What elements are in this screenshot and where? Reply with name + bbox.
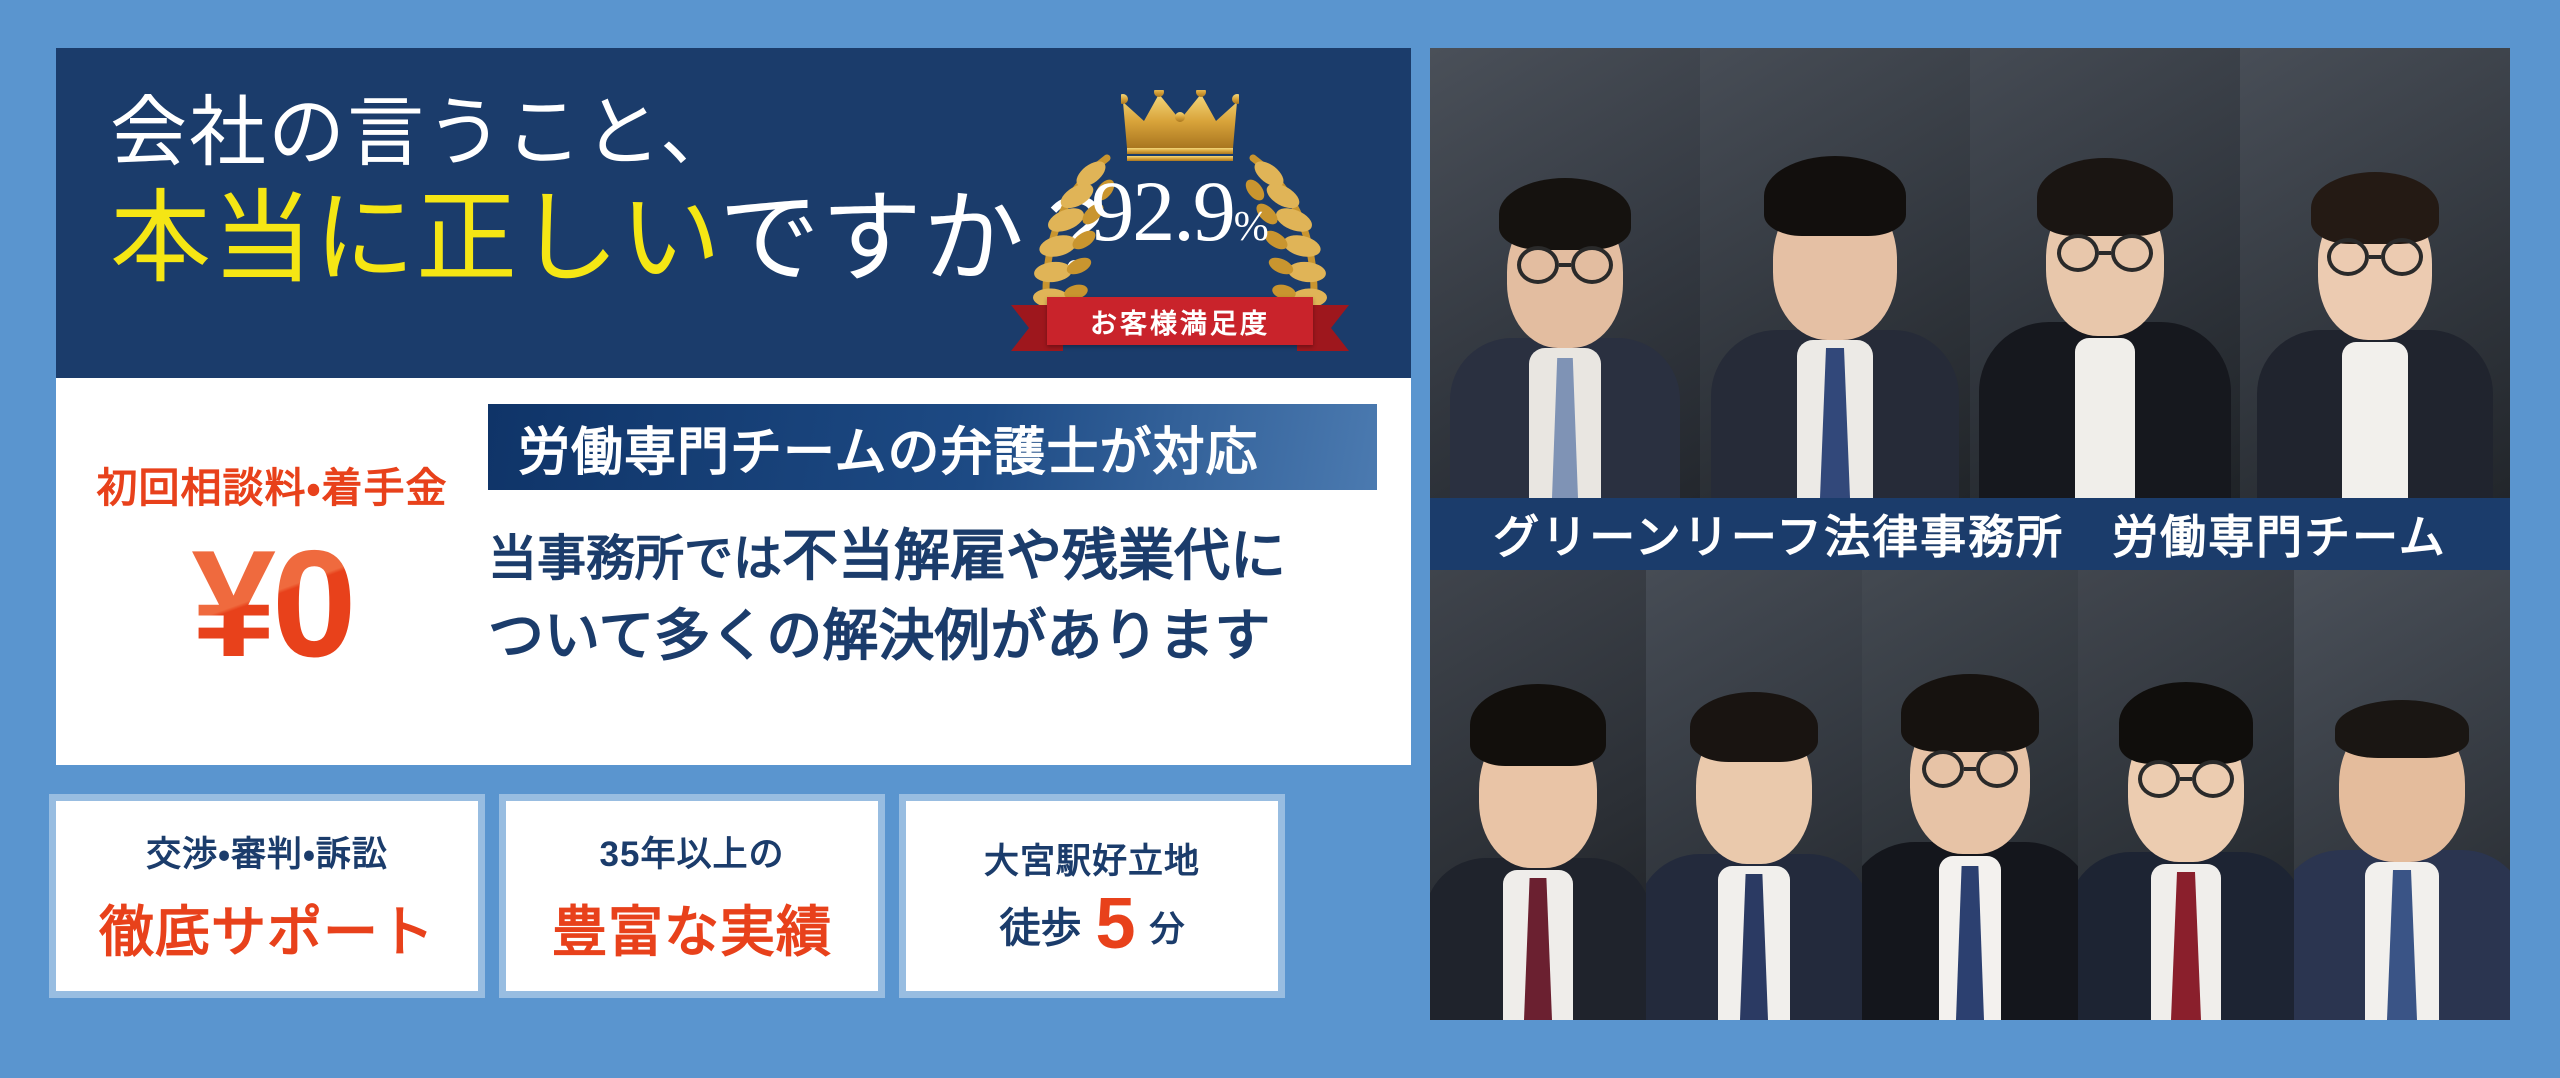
satisfaction-badge: 92.9% お客様満足度	[1015, 90, 1345, 355]
ribbon-body: お客様満足度	[1047, 297, 1313, 345]
offer-body-plain: 当事務所では	[488, 532, 782, 586]
offer-body-line-1: 当事務所では不当解雇や残業代に	[488, 516, 1377, 596]
offer-body-text: 当事務所では不当解雇や残業代に ついて多くの解決例があります	[488, 516, 1377, 675]
offer-card: 初回相談料・着手金 ¥0 労働専門チームの弁護士が対応 当事務所では不当解雇や残…	[56, 378, 1411, 765]
feature-support-top: 交渉・審判・訴訟	[146, 826, 388, 877]
offer-body-emphasis: 不当解雇や残業代に	[782, 524, 1286, 587]
feature-location-top: 大宮駅好立地	[984, 833, 1200, 884]
offer-body-line-2: ついて多くの解決例があります	[488, 596, 1377, 676]
team-caption-bar: グリーンリーフ法律事務所 労働専門チーム	[1430, 498, 2510, 570]
ribbon-label: お客様満足度	[1090, 302, 1270, 341]
left-content-column: 会社の言うこと、 本当に正しいですか？	[0, 0, 1400, 1078]
feature-location-walk: 徒歩 5 分	[999, 888, 1184, 960]
feature-experience-main: 豊富な実績	[552, 887, 832, 967]
feature-support-main: 徹底サポート	[99, 887, 435, 967]
lawyer-portrait-2	[1700, 48, 1970, 498]
team-photo-column: グリーンリーフ法律事務所 労働専門チーム	[1430, 48, 2510, 1020]
lawyer-portrait-5	[1430, 570, 1646, 1020]
fee-value: ¥0	[191, 532, 352, 678]
feature-box-support[interactable]: 交渉・審判・訴訟 徹底サポート	[56, 801, 478, 991]
lawyer-portrait-9	[2294, 570, 2510, 1020]
team-photo-row-top	[1430, 48, 2510, 498]
walk-minutes: 5	[1095, 888, 1135, 960]
offer-description-block: 労働専門チームの弁護士が対応 当事務所では不当解雇や残業代に ついて多くの解決例…	[488, 404, 1411, 739]
headline-emphasis: 本当に正しい	[110, 183, 719, 295]
lawyer-portrait-1	[1430, 48, 1700, 498]
walk-label: 徒歩	[999, 894, 1081, 954]
fee-caption: 初回相談料・着手金	[97, 454, 448, 514]
lawyer-portrait-7	[1862, 570, 2078, 1020]
lawyer-portrait-6	[1646, 570, 1862, 1020]
lawyer-portrait-8	[2078, 570, 2294, 1020]
lawyer-portrait-3	[1970, 48, 2240, 498]
specialist-team-bar: 労働専門チームの弁護士が対応	[488, 404, 1377, 490]
satisfaction-value: 92.9%	[1015, 168, 1345, 254]
percent-sign: %	[1234, 204, 1269, 250]
lawyer-portrait-4	[2240, 48, 2510, 498]
walk-unit: 分	[1150, 901, 1185, 960]
feature-experience-top: 35年以上の	[600, 826, 785, 877]
headline-panel: 会社の言うこと、 本当に正しいですか？	[56, 48, 1411, 378]
satisfaction-ribbon: お客様満足度	[1011, 291, 1349, 353]
law-firm-banner: 会社の言うこと、 本当に正しいですか？	[0, 0, 2560, 1078]
firm-name-label: グリーンリーフ法律事務所 労働専門チーム	[1493, 501, 2447, 567]
feature-box-experience[interactable]: 35年以上の 豊富な実績	[506, 801, 878, 991]
specialist-team-label: 労働専門チームの弁護士が対応	[518, 410, 1258, 485]
feature-box-list: 交渉・審判・訴訟 徹底サポート 35年以上の 豊富な実績 大宮駅好立地 徒歩 5…	[56, 801, 1400, 991]
fee-block: 初回相談料・着手金 ¥0	[56, 404, 488, 739]
crown-icon	[1121, 90, 1239, 164]
team-photo-row-bottom	[1430, 570, 2510, 1020]
feature-box-location[interactable]: 大宮駅好立地 徒歩 5 分	[906, 801, 1278, 991]
satisfaction-number: 92.9	[1091, 163, 1234, 259]
